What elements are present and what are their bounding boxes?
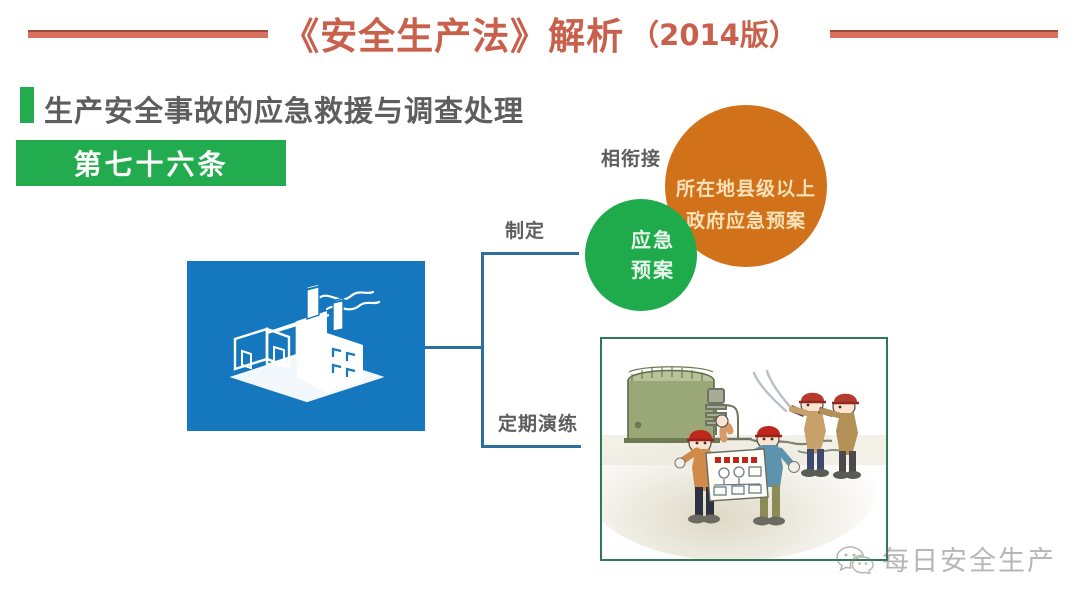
slide-title: 《安全生产法》解析（2014版） [0,6,1080,60]
label-make-plan: 制定 [505,216,545,243]
slide-canvas: 《安全生产法》解析（2014版） 生产安全事故的应急救援与调查处理 第七十六条 [0,0,1080,607]
section-heading: 生产安全事故的应急救援与调查处理 [44,88,524,130]
green-circle-line2: 预案 [631,255,675,285]
factory-panel [187,261,425,431]
connector-stem [425,346,483,349]
factory-icon [211,281,401,411]
green-circle-emergency-plan: 应急 预案 [585,199,697,311]
orange-circle-line2: 政府应急预案 [686,205,806,237]
green-circle-line1: 应急 [631,225,675,255]
orange-circle-line1: 所在地县级以上 [676,173,816,205]
emergency-drill-illustration [602,339,886,559]
article-number-badge: 第七十六条 [16,140,286,186]
wechat-icon [836,544,874,574]
watermark-text: 每日安全生产 [882,539,1056,578]
connector-branch-top [481,252,579,255]
connector-vertical [481,252,484,448]
slide-title-main: 《安全生产法》解析 [282,15,624,58]
slide-title-version: （2014版） [630,18,798,52]
watermark: 每日安全生产 [836,539,1056,578]
label-regular-drill: 定期演练 [498,409,578,436]
emergency-drill-frame [600,337,888,561]
connector-branch-bottom [481,445,581,448]
slide-header: 《安全生产法》解析（2014版） [0,0,1080,70]
label-link-up: 相衔接 [601,144,661,171]
section-accent-bar [20,87,34,123]
